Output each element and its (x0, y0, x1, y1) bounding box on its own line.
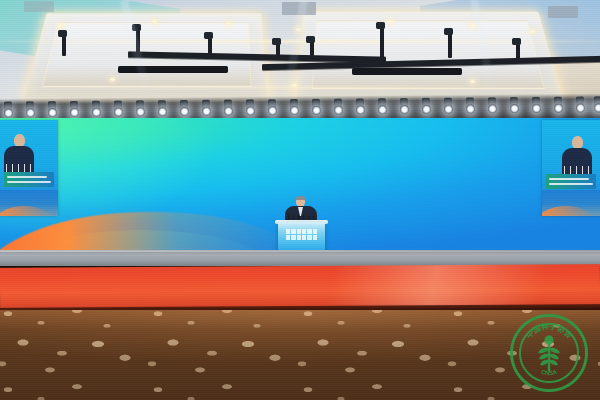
banner-text-wrap (0, 270, 600, 301)
ceiling-cove-strip-1 (0, 40, 600, 43)
truss-hung-fixture-left (118, 66, 228, 73)
microphone-icon (6, 164, 34, 172)
truss-fixture-3 (204, 32, 213, 39)
ceiling-downlight-9 (292, 84, 297, 87)
svg-text:中国种子协会: 中国种子协会 (524, 321, 575, 341)
screen-caption-bar (4, 172, 54, 187)
truss-fixture-6 (376, 22, 385, 29)
spotlight-icon (26, 108, 35, 117)
spotlight-icon (158, 107, 167, 116)
spotlight-icon (268, 106, 277, 115)
screen-lower-band (0, 190, 58, 216)
spotlight-icon (136, 107, 145, 116)
spotlight-icon (576, 104, 585, 113)
ceiling-coffer-right-inner (312, 21, 545, 89)
ceiling-downlight-10 (470, 80, 475, 83)
truss-fixture-4 (272, 38, 281, 45)
microphone-icon (564, 166, 592, 174)
ceiling-cove-strip-2 (0, 86, 600, 89)
ceiling-downlight-1 (58, 24, 63, 27)
left-projection-screen (0, 120, 58, 216)
ceiling-downlight-7 (530, 30, 535, 33)
screen-lower-swoosh (542, 206, 596, 216)
seal-bottom-text: CNSA (540, 369, 558, 377)
truss-fixture-7 (444, 28, 453, 35)
seal-ring-text: 中国种子协会 CNSA (513, 317, 585, 389)
ceiling-downlight-8 (110, 78, 115, 81)
organization-seal-watermark: 中国种子协会 CNSA (510, 314, 588, 392)
spotlight-icon (246, 106, 255, 115)
stage-edge-highlight (0, 250, 600, 252)
screen-lower-band (542, 190, 600, 216)
conference-stage-photo: 中国种子协会 CNSA (0, 0, 600, 400)
spotlight-icon (422, 105, 431, 114)
ceiling-downlight-4 (296, 28, 301, 31)
ceiling-downlight-3 (226, 22, 231, 25)
spotlight-icon (202, 107, 211, 116)
spotlight-icon (488, 104, 497, 113)
spotlight-icon (378, 105, 387, 114)
spotlight-icon (400, 105, 409, 114)
spotlight-icon (334, 106, 343, 115)
ceiling-vent-2 (548, 6, 578, 18)
ceiling-downlight-2 (152, 20, 157, 23)
ceiling-vent-1 (282, 2, 316, 15)
ceiling-vent-3 (24, 1, 54, 12)
truss-drop-1 (62, 34, 66, 56)
seal-top-text: 中国种子协会 (524, 321, 575, 341)
spotlight-icon (48, 108, 57, 117)
spotlight-icon (224, 107, 233, 116)
screen-lower-swoosh (0, 206, 54, 216)
screen-caption-bar (546, 174, 596, 189)
spotlight-icon (554, 104, 563, 113)
truss-fixture-8 (512, 38, 521, 45)
spotlight-icon (312, 106, 321, 115)
truss-fixture-5 (306, 36, 315, 43)
spotlight-icon (92, 108, 101, 117)
spotlight-icon (180, 107, 189, 116)
spotlight-icon (594, 103, 600, 112)
spotlight-icon (510, 104, 519, 113)
truss-fixture-2 (132, 24, 141, 31)
spotlight-icon (70, 108, 79, 117)
spotlight-icon (4, 109, 13, 118)
stage-front-edge (0, 250, 600, 266)
spotlight-icon (356, 105, 365, 114)
ceiling-downlight-6 (470, 24, 475, 27)
truss-fixture-1 (58, 30, 67, 37)
spotlight-icon (532, 104, 541, 113)
spotlight-icon (114, 108, 123, 117)
truss-drop-7 (448, 32, 452, 58)
spotlight-icon (444, 105, 453, 114)
svg-text:CNSA: CNSA (540, 369, 558, 377)
truss-drop-6 (380, 26, 384, 58)
right-projection-screen (542, 120, 600, 216)
truss-hung-fixture-right (352, 68, 462, 75)
spotlight-icon (290, 106, 299, 115)
ceiling-downlight-5 (388, 20, 393, 23)
podium-front-panel (286, 229, 317, 240)
speaker-hair (296, 196, 305, 200)
spotlight-icon (466, 104, 475, 113)
